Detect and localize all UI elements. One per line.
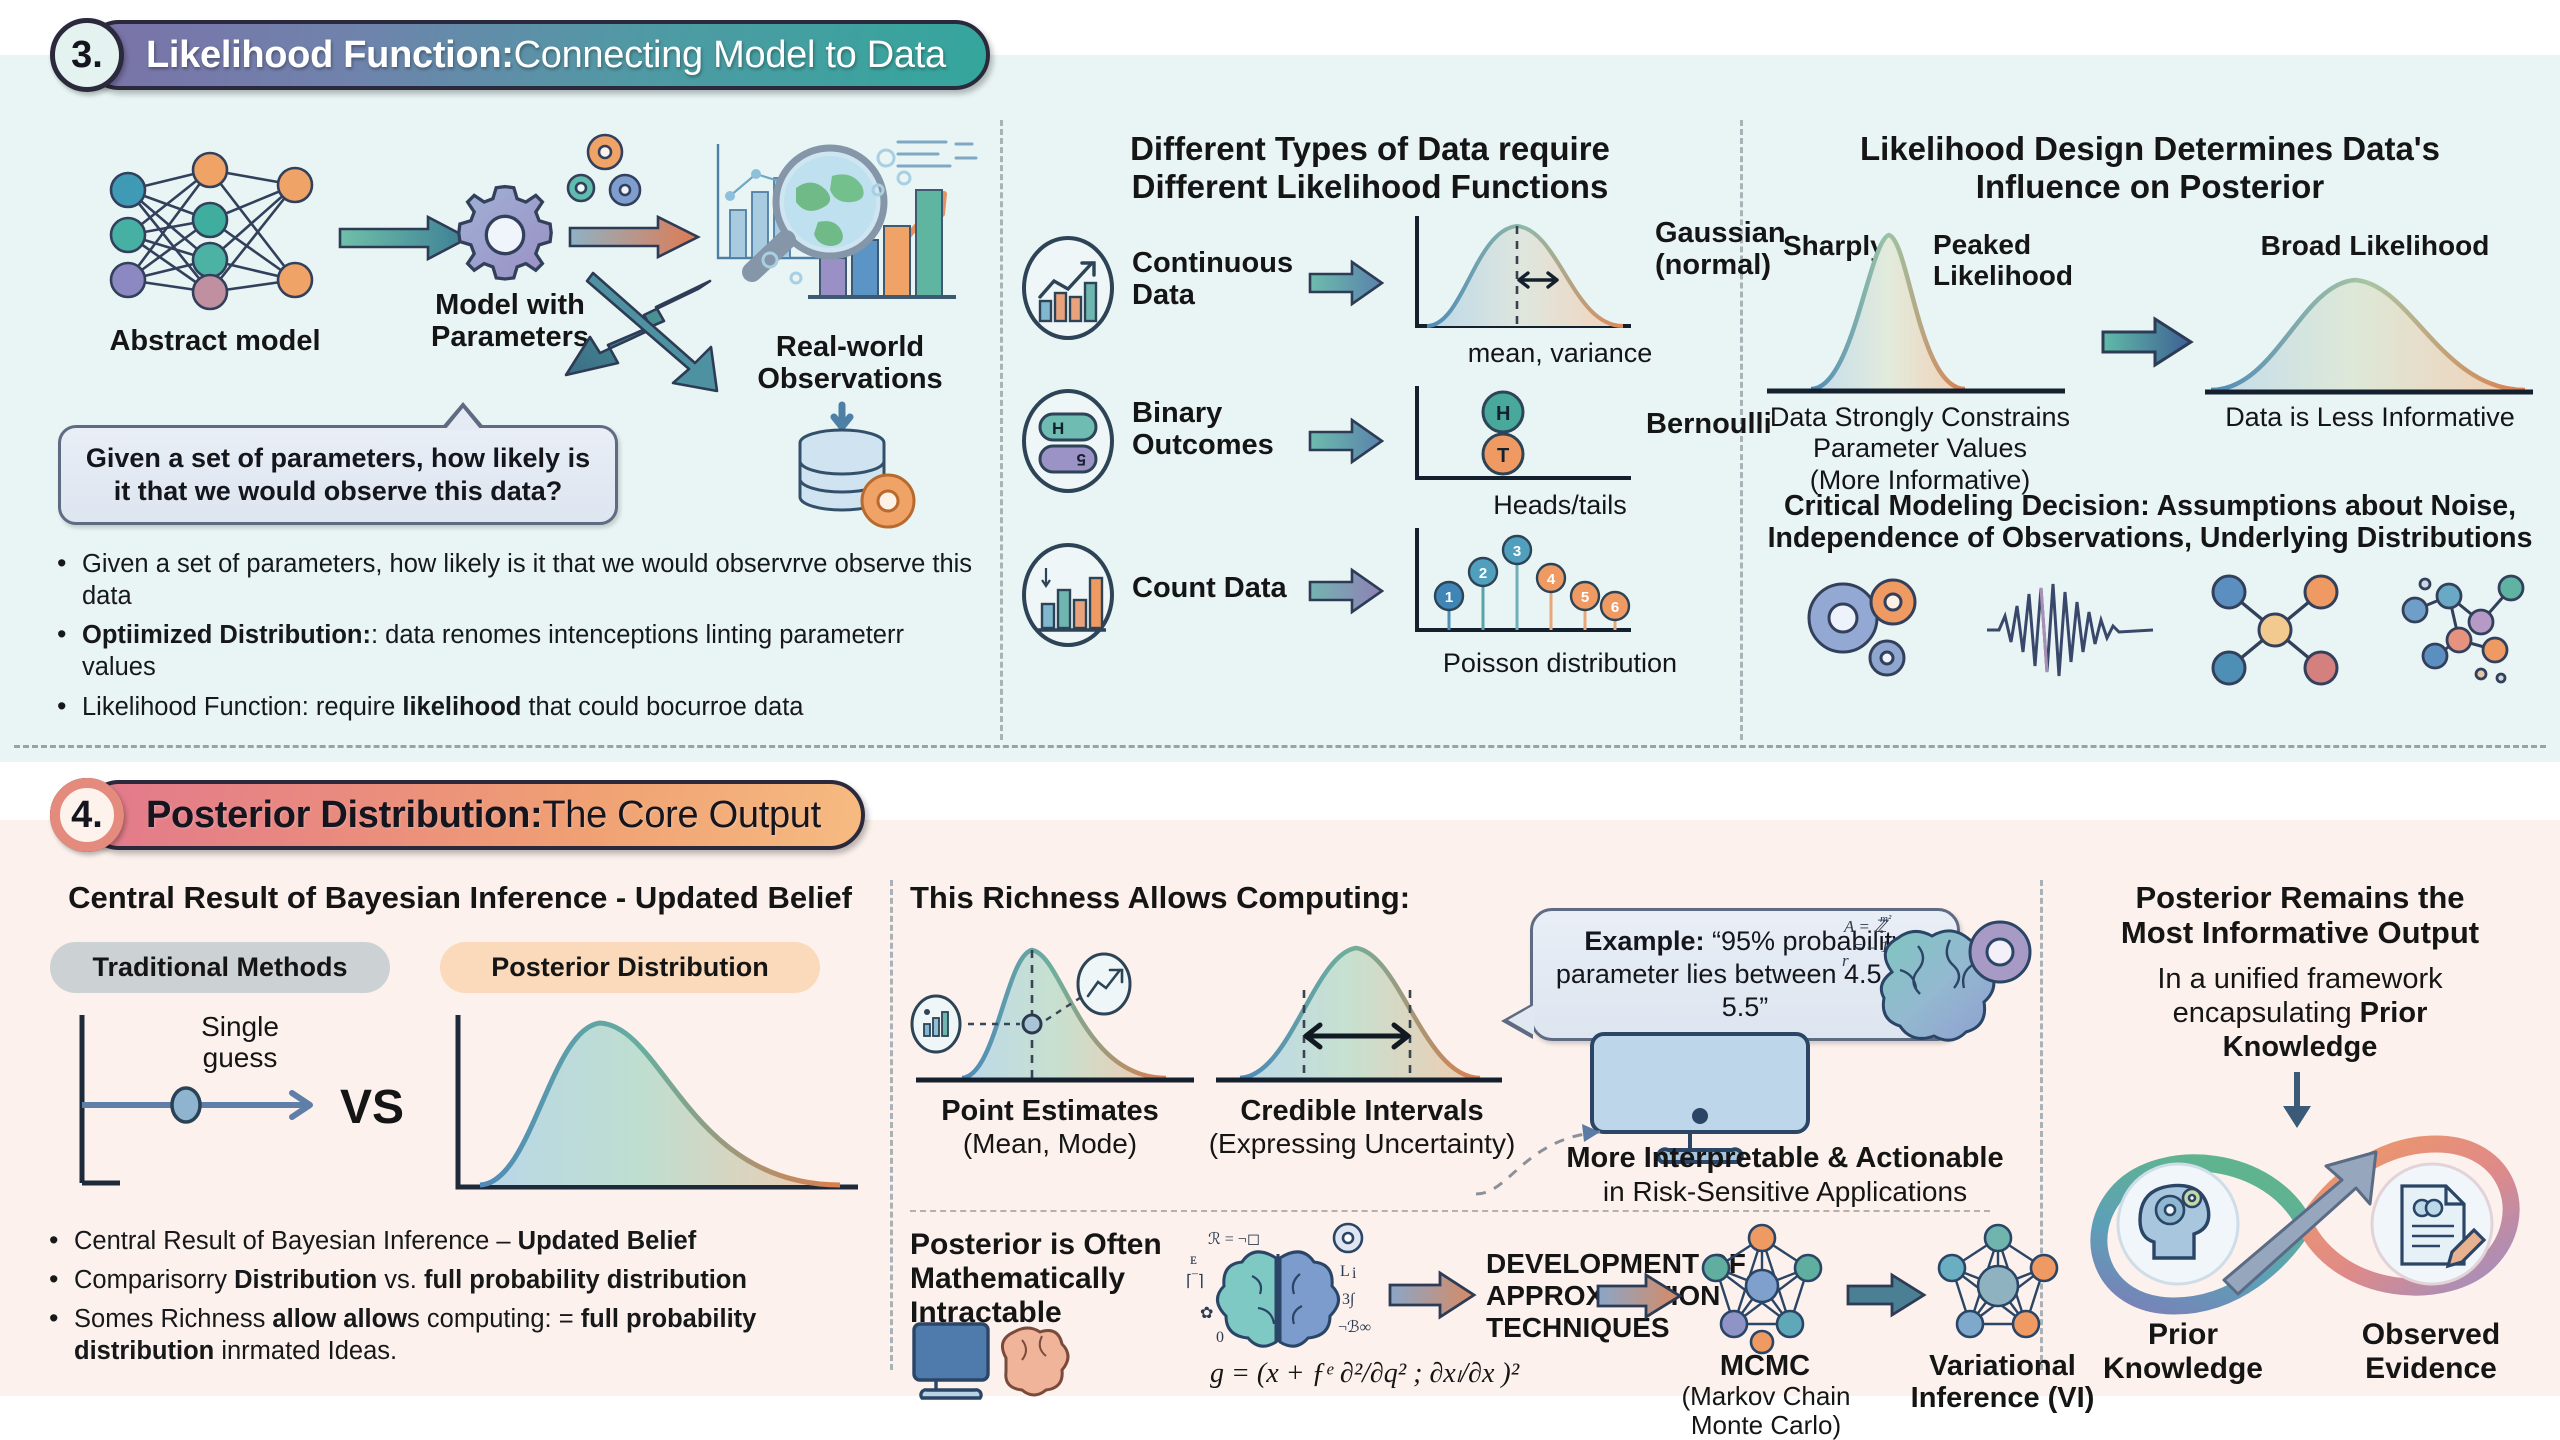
s3-right-heading: Likelihood Design Determines Data's Infl… [1755,130,2545,205]
vs-label: VS [340,1080,404,1135]
bar-chart-icon [1020,542,1116,648]
s3-bullet-list: Given a set of parameters, how likely is… [48,548,978,730]
poisson-chart: 1 2 3 4 5 6 [1405,522,1635,650]
svg-text:5: 5 [1581,589,1589,606]
section4-number-badge: 4. [50,778,124,852]
section3-number-badge: 3. [50,18,124,92]
database-icon [780,405,930,535]
credible-intervals-chart [1210,928,1510,1108]
list-item: Optiimized Distribution:: data renomes i… [48,619,978,683]
mcmc-sub: (Markov Chain Monte Carlo) [1646,1382,1886,1440]
poisson-axis-label: Poisson distribution [1410,648,1710,679]
arrow-params-to-observations-icon [570,215,700,259]
s4-bullet-text-2: Comparisorry Distribution vs. full proba… [74,1266,747,1294]
more-interpretable-title: More Interpretable & Actionable [1550,1142,2020,1175]
arrow-continuous-icon [1310,260,1384,306]
brain-gear-icon: A = ℤm² = – 1r [1840,910,2040,1090]
s4-right-panel: Posterior Remains the Most Informative O… [2060,880,2540,1380]
svg-text:4: 4 [1547,571,1556,588]
monitor-brain-small-icon [910,1318,1100,1408]
down-arrow-icon [2274,1072,2320,1132]
point-estimates-sub: (Mean, Mode) [910,1128,1190,1160]
section-likelihood-function: 3. Likelihood Function: Connecting Model… [0,0,2560,762]
s4-left-panel: Central Result of Bayesian Inference - U… [40,880,880,1380]
arrow-mcmc-to-vi-icon [1848,1272,1926,1318]
bullet-text-2: Optiimized Distribution:: data renomes i… [82,621,904,681]
svg-text:i: i [1352,1265,1357,1282]
s3-right-panel: Likelihood Design Determines Data's Infl… [1755,130,2545,740]
likelihood-question-bubble: Given a set of parameters, how likely is… [58,425,618,525]
section4-title-strong: Posterior Distribution: [146,794,542,837]
s4-mid-panel: This Richness Allows Computing: [910,880,2020,1380]
svg-text:H: H [1052,419,1064,438]
callout-tail-icon [1508,1005,1534,1035]
divider-s4-left-mid [890,880,893,1370]
svg-text:⌈‾⌉: ⌈‾⌉ [1186,1272,1204,1290]
heads-tails-axis-label: Heads/tails [1430,490,1690,521]
arrow-count-icon [1310,568,1384,614]
svg-text:r: r [1842,951,1849,970]
s3-left-panel: Abstract model Model with Parameters [40,120,990,740]
neural-network-icon [90,140,340,320]
posterior-distribution-chart [440,1005,860,1205]
critical-modeling-decision-text: Critical Modeling Decision: Assumptions … [1755,490,2545,555]
section4-title-bar: Posterior Distribution: The Core Output [84,780,865,850]
point-estimates-title: Point Estimates [910,1095,1190,1128]
bullet-text-3: Likelihood Function: require likelihood … [82,693,803,721]
molecule-graph-icon [2395,570,2535,690]
mcmc-title: MCMC [1670,1350,1860,1383]
svg-text:ᴇ: ᴇ [1190,1251,1197,1268]
arrow-sharp-to-broad-icon [2103,316,2193,368]
network-node-icon [2205,570,2345,690]
point-estimates-chart [910,928,1210,1108]
gaussian-curve-chart [1405,208,1635,338]
divider-s3-left-mid [1000,120,1003,740]
example-callout-bold: Example: [1584,926,1704,956]
line-bar-chart-icon [1020,235,1116,341]
mcmc-network-icon [1692,1224,1832,1354]
right-chart-caption: Data is Less Informative [2195,402,2545,433]
arrow-binary-icon [1310,418,1384,464]
s4-bullet-text-3: Somes Richness allow allows computing: =… [74,1305,756,1365]
s4-bullet-list: Central Result of Bayesian Inference – U… [40,1225,870,1375]
section3-title-light: Connecting Model to Data [514,34,946,77]
s4-right-heading: Posterior Remains the Most Informative O… [2060,880,2540,951]
section3-title-strong: Likelihood Function: [146,34,514,77]
bernoulli-chart: H T [1405,380,1635,496]
svg-text:5: 5 [1077,450,1086,469]
vi-network-icon [1928,1224,2068,1354]
svg-text:= – 1: = – 1 [1852,937,1889,956]
mean-variance-axis-label: mean, variance [1430,338,1690,369]
s3-mid-heading: Different Types of Data require Differen… [1010,130,1730,205]
more-interpretable-sub: in Risk-Sensitive Applications [1550,1176,2020,1208]
section4-title-light: The Core Output [542,794,821,837]
list-item: Comparisorry Distribution vs. full proba… [40,1264,870,1296]
s4-mid-hrule [910,1210,1990,1212]
s4-bullet-text-1: Central Result of Bayesian Inference – U… [74,1227,696,1255]
svg-text:3∫: 3∫ [1342,1291,1356,1309]
section3-title-bar: Likelihood Function: Connecting Model to… [84,20,990,90]
traditional-methods-pill: Traditional Methods [50,942,390,993]
gears-icon [1795,570,1925,680]
left-chart-caption: Data Strongly Constrains Parameter Value… [1755,402,2085,496]
bubble-text: Given a set of parameters, how likely is… [86,443,590,506]
s3-mid-panel: Different Types of Data require Differen… [1010,130,1730,740]
formula-label: g = (x + ƒᵉ ∂²/∂q² ; ∂xₗ/∂x )² [1210,1356,1519,1390]
small-gears-icon [565,130,685,220]
bernoulli-label: Bernoulli [1646,408,1772,441]
abstract-model-label: Abstract model [80,325,350,358]
list-item: Somes Richness allow allows computing: =… [40,1303,870,1367]
section-divider [14,745,2546,748]
section3-banner: 3. Likelihood Function: Connecting Model… [50,20,990,90]
infinity-loop-diagram [2070,1130,2540,1320]
intractable-title: Posterior is Often Mathematically Intrac… [910,1228,1210,1331]
posterior-distribution-pill: Posterior Distribution [440,942,820,993]
s4-right-subtext: In a unified framework encapsulating Pri… [2060,962,2540,1065]
real-world-observations-label: Real-world Observations [730,332,970,396]
observed-evidence-label: Observed Evidence [2326,1318,2536,1386]
arrow-to-approximation-icon [1390,1270,1476,1320]
svg-text:3: 3 [1513,543,1521,560]
svg-text:0: 0 [1216,1329,1224,1346]
real-world-observations-icon [700,130,990,330]
prior-knowledge-label: Prior Knowledge [2078,1318,2288,1386]
arrow-approximation-to-mcmc-icon [1598,1272,1682,1320]
broad-likelihood-label: Broad Likelihood [2225,230,2525,262]
list-item: Likelihood Function: require likelihood … [48,691,978,723]
gear-icon [450,180,560,290]
s4-left-heading: Central Result of Bayesian Inference - U… [40,880,880,915]
waveform-icon [1985,582,2155,678]
svg-text:T: T [1497,445,1509,467]
bullet-text-1: Given a set of parameters, how likely is… [82,550,972,610]
continuous-data-label: Continuous Data [1132,248,1293,312]
broad-likelihood-chart [2205,260,2535,410]
section4-banner: 4. Posterior Distribution: The Core Outp… [50,780,865,850]
binary-outcomes-label: Binary Outcomes [1132,398,1274,462]
svg-text:m²: m² [1880,913,1892,925]
svg-text:ℛ = ¬◻: ℛ = ¬◻ [1208,1231,1260,1248]
svg-text:6: 6 [1611,599,1619,616]
sharply-peaked-likelihood-chart [1765,225,2085,405]
bubble-tail-icon [445,408,481,430]
svg-text:2: 2 [1479,565,1487,582]
svg-text:1: 1 [1445,589,1453,606]
svg-text:H: H [1496,403,1510,425]
brain-equations-icon: ℛ = ¬◻ᴇ⌈‾⌉ 0Li 3∫✿0 ¬ℬ∞ [1180,1224,1390,1374]
svg-text:L: L [1340,1263,1350,1280]
coin-toggle-icon: H 5 [1020,388,1116,494]
svg-text:¬ℬ∞: ¬ℬ∞ [1338,1319,1371,1336]
list-item: Central Result of Bayesian Inference – U… [40,1225,870,1257]
svg-text:✿: ✿ [1200,1305,1213,1322]
list-item: Given a set of parameters, how likely is… [48,548,978,612]
count-data-label: Count Data [1132,572,1287,605]
